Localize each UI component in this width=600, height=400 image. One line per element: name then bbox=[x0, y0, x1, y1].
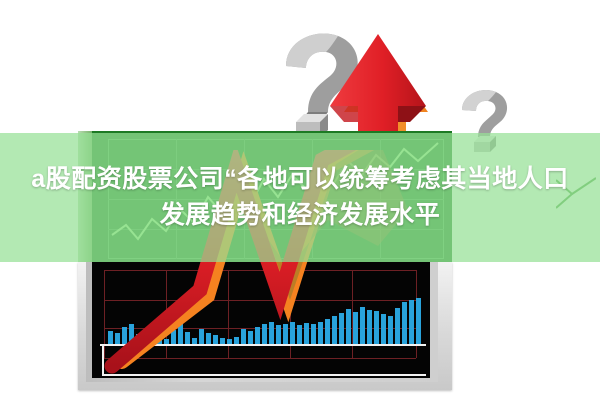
page-title: a股配资股票公司“各地可以统筹考虑其当地人口 发展趋势和经济发展水平 bbox=[0, 133, 600, 262]
title-line-2: 发展趋势和经济发展水平 bbox=[160, 201, 441, 230]
title-line-1: a股配资股票公司“各地可以统筹考虑其当地人口 bbox=[31, 165, 568, 194]
illustration-stage: a股配资股票公司“各地可以统筹考虑其当地人口 发展趋势和经济发展水平 bbox=[0, 0, 600, 400]
